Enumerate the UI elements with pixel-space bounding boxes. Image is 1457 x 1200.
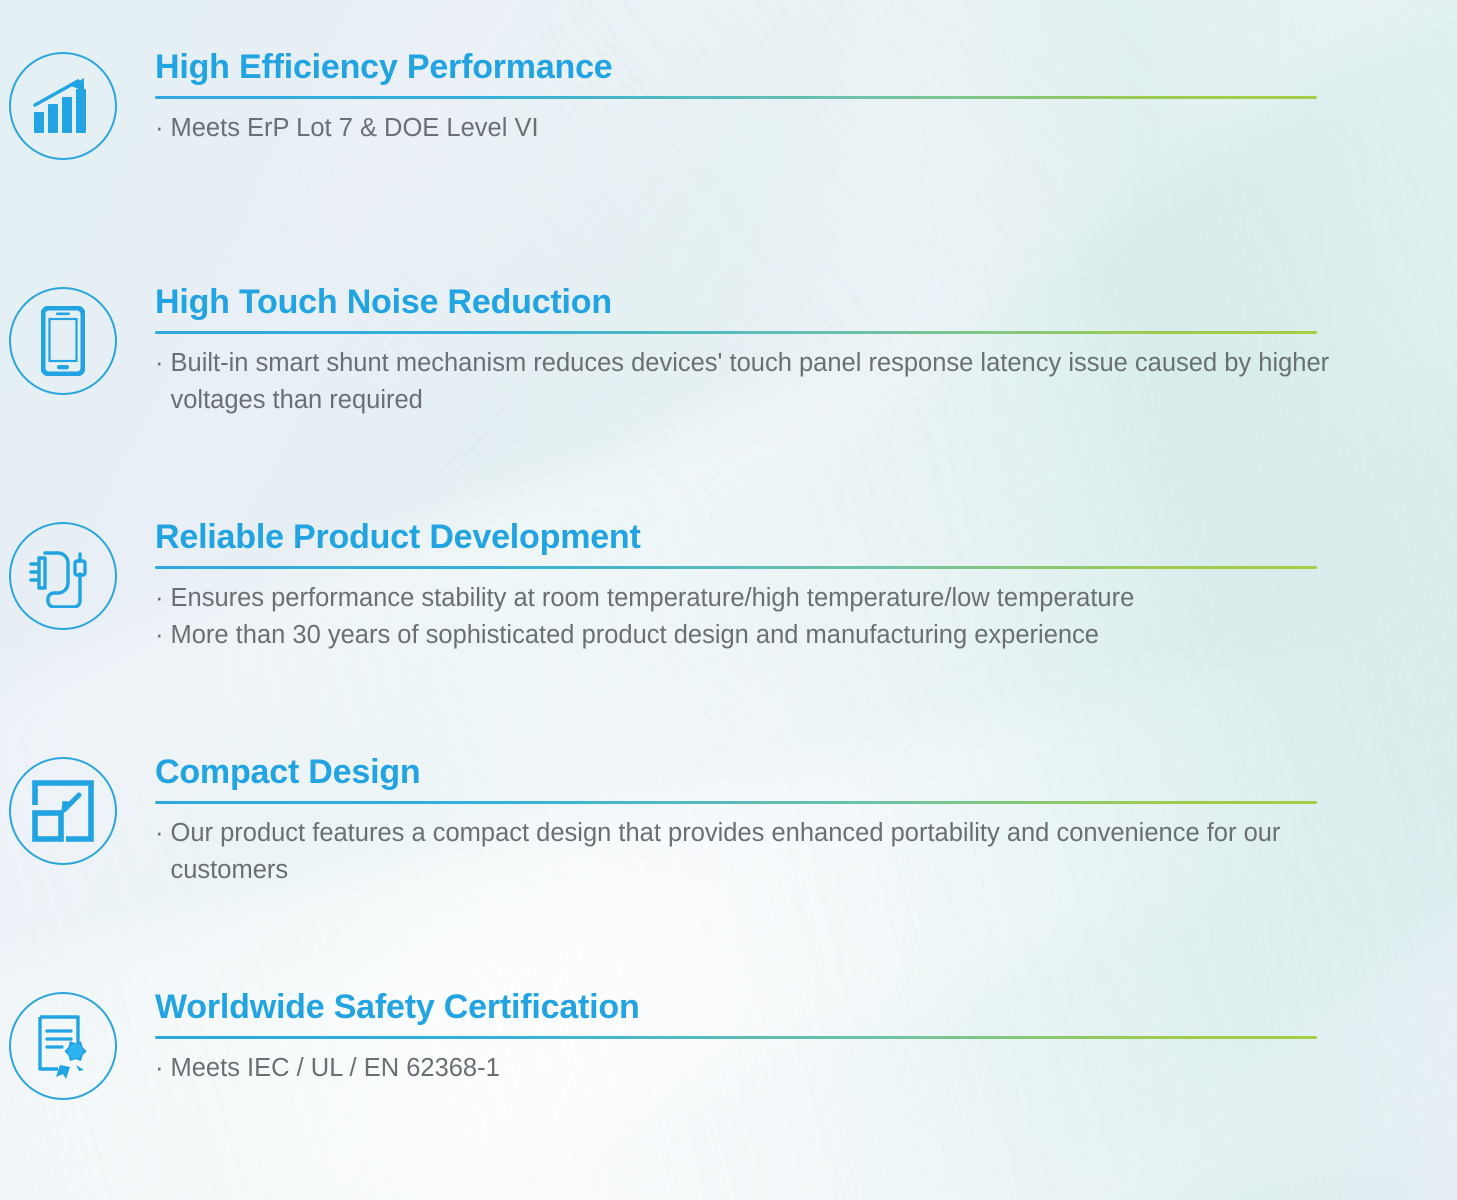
- feature-item-compact-design: Compact Design · Our product features a …: [0, 753, 1457, 889]
- feature-bullet: · Meets ErP Lot 7 & DOE Level VI: [155, 110, 1377, 147]
- bullet-marker: ·: [155, 110, 164, 147]
- feature-bullet: · Ensures performance stability at room …: [155, 580, 1377, 617]
- feature-bullet: · More than 30 years of sophisticated pr…: [155, 617, 1377, 654]
- compact-resize-icon: [32, 780, 94, 842]
- bullet-marker: ·: [155, 580, 164, 617]
- feature-body: High Touch Noise Reduction · Built-in sm…: [125, 283, 1457, 419]
- bullet-marker: ·: [155, 1050, 164, 1087]
- feature-bullet: · Meets IEC / UL / EN 62368-1: [155, 1050, 1377, 1087]
- feature-item-reliable-product-development: Reliable Product Development · Ensures p…: [0, 518, 1457, 654]
- icon-circle: [9, 287, 117, 395]
- feature-divider: [155, 96, 1317, 99]
- feature-body: Compact Design · Our product features a …: [125, 753, 1457, 889]
- feature-bullet: · Built-in smart shunt mechanism reduces…: [155, 345, 1377, 419]
- icon-circle: [9, 992, 117, 1100]
- bullet-marker: ·: [155, 345, 164, 382]
- feature-body: Worldwide Safety Certification · Meets I…: [125, 988, 1457, 1087]
- certificate-award-icon: [32, 1013, 94, 1079]
- feature-body: Reliable Product Development · Ensures p…: [125, 518, 1457, 654]
- bullet-text: Meets ErP Lot 7 & DOE Level VI: [171, 110, 1378, 147]
- feature-divider: [155, 1036, 1317, 1039]
- feature-bullet: · Our product features a compact design …: [155, 815, 1377, 889]
- feature-list: High Efficiency Performance · Meets ErP …: [0, 0, 1457, 1200]
- feature-body: High Efficiency Performance · Meets ErP …: [125, 48, 1457, 147]
- feature-title: High Efficiency Performance: [155, 48, 1377, 87]
- feature-item-high-touch-noise-reduction: High Touch Noise Reduction · Built-in sm…: [0, 283, 1457, 419]
- bullet-marker: ·: [155, 815, 164, 852]
- feature-icon-wrap: [0, 518, 125, 630]
- feature-divider: [155, 801, 1317, 804]
- feature-title: High Touch Noise Reduction: [155, 283, 1377, 322]
- feature-divider: [155, 331, 1317, 334]
- feature-icon-wrap: [0, 988, 125, 1100]
- bullet-text: Our product features a compact design th…: [171, 815, 1378, 889]
- bullet-marker: ·: [155, 617, 164, 654]
- icon-circle: [9, 52, 117, 160]
- power-adapter-icon: [26, 544, 100, 608]
- bullet-text: Built-in smart shunt mechanism reduces d…: [171, 345, 1378, 419]
- smartphone-icon: [41, 306, 85, 376]
- bullet-text: More than 30 years of sophisticated prod…: [171, 617, 1378, 654]
- icon-circle: [9, 522, 117, 630]
- feature-icon-wrap: [0, 48, 125, 160]
- feature-title: Reliable Product Development: [155, 518, 1377, 557]
- feature-title: Worldwide Safety Certification: [155, 988, 1377, 1027]
- icon-circle: [9, 757, 117, 865]
- feature-icon-wrap: [0, 283, 125, 395]
- feature-divider: [155, 566, 1317, 569]
- bullet-text: Ensures performance stability at room te…: [171, 580, 1378, 617]
- bar-chart-growth-icon: [32, 77, 94, 135]
- feature-item-high-efficiency-performance: High Efficiency Performance · Meets ErP …: [0, 48, 1457, 160]
- feature-icon-wrap: [0, 753, 125, 865]
- feature-title: Compact Design: [155, 753, 1377, 792]
- feature-item-worldwide-safety-certification: Worldwide Safety Certification · Meets I…: [0, 988, 1457, 1100]
- bullet-text: Meets IEC / UL / EN 62368-1: [171, 1050, 1378, 1087]
